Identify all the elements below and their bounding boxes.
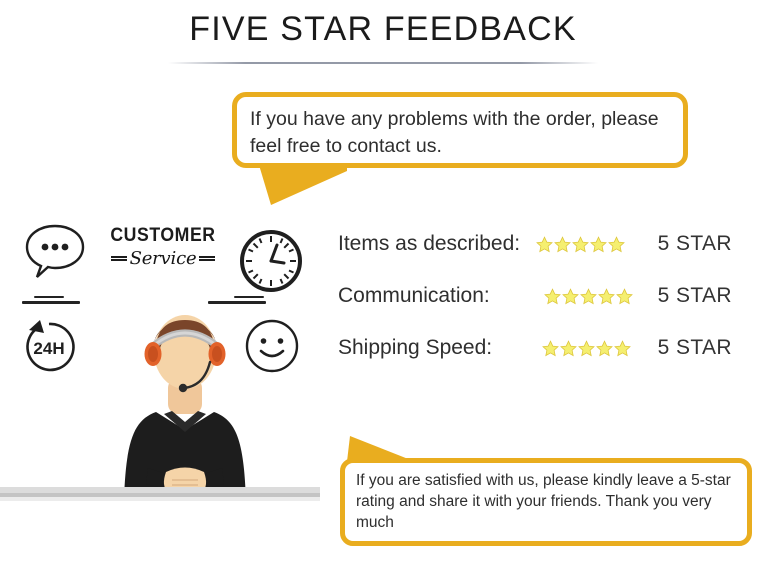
- star-rating: [544, 288, 644, 305]
- feedback-banner: FIVE STAR FEEDBACK If you have any probl…: [0, 0, 766, 564]
- star-icon: [578, 340, 595, 357]
- star-icon: [580, 288, 597, 305]
- rating-row: Shipping Speed: 5 STAR: [338, 322, 748, 374]
- review-request-text: If you are satisfied with us, please kin…: [345, 463, 747, 541]
- clock-icon: [238, 228, 304, 294]
- customer-service-logo: CUSTOMER Service: [101, 225, 225, 269]
- star-icon: [596, 340, 613, 357]
- star-icon: [554, 236, 571, 253]
- logo-line-service: Service: [101, 248, 225, 269]
- star-icon: [560, 340, 577, 357]
- logo-dash-left: [111, 256, 127, 261]
- star-rating: [542, 340, 642, 357]
- rating-row: Items as described: 5 STAR: [338, 218, 748, 270]
- rating-label: Items as described:: [338, 232, 538, 256]
- rating-row: Communication: 5 STAR: [338, 270, 748, 322]
- desk-surface: [0, 487, 320, 501]
- star-icon: [562, 288, 579, 305]
- star-icon: [590, 236, 607, 253]
- rating-score: 5 STAR: [658, 232, 748, 256]
- review-request-bubble: If you are satisfied with us, please kin…: [340, 458, 752, 546]
- contact-bubble-text: If you have any problems with the order,…: [237, 97, 683, 170]
- star-rating: [536, 236, 636, 253]
- rating-label: Shipping Speed:: [338, 336, 538, 360]
- star-icon: [536, 236, 553, 253]
- logo-script-text: Service: [130, 248, 197, 269]
- top-bubble-tail: [259, 165, 347, 205]
- chat-bubble-dots-icon: [24, 222, 86, 280]
- logo-dash-right: [199, 256, 215, 261]
- star-icon: [544, 288, 561, 305]
- rating-score: 5 STAR: [658, 336, 748, 360]
- star-icon: [542, 340, 559, 357]
- star-icon: [614, 340, 631, 357]
- logo-line-customer: CUSTOMER: [105, 225, 220, 247]
- star-icon: [598, 288, 615, 305]
- title-divider: [168, 62, 598, 64]
- contact-bubble: If you have any problems with the order,…: [232, 92, 688, 168]
- rating-score: 5 STAR: [658, 284, 748, 308]
- rating-label: Communication:: [338, 284, 538, 308]
- star-icon: [616, 288, 633, 305]
- star-icon: [608, 236, 625, 253]
- page-title: FIVE STAR FEEDBACK: [0, 10, 766, 49]
- star-icon: [572, 236, 589, 253]
- ratings-list: Items as described: 5 STAR Communication…: [338, 218, 748, 374]
